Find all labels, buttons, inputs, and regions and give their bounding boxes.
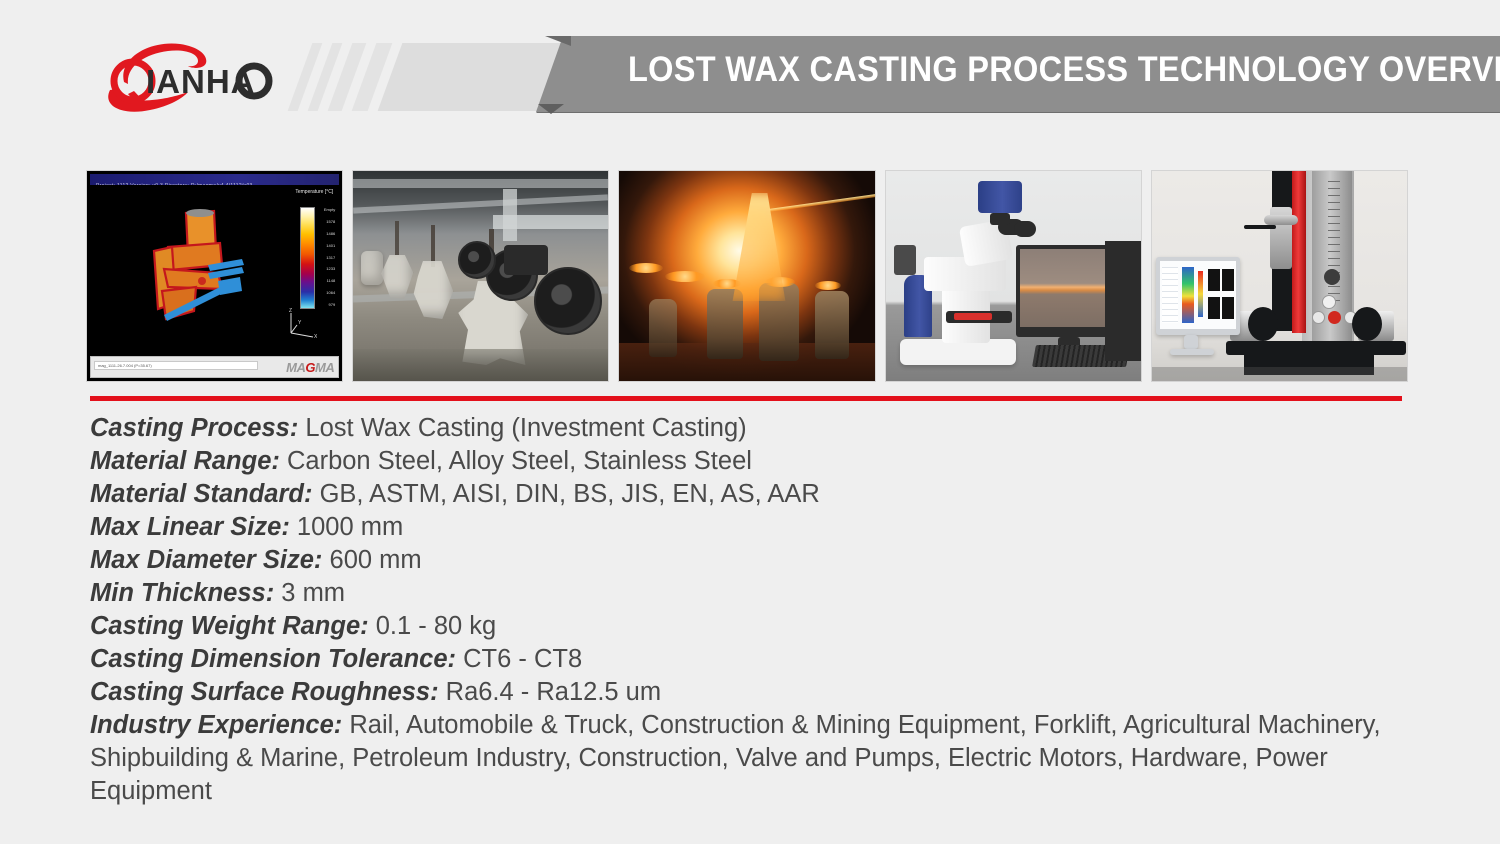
spec-label: Casting Dimension Tolerance:: [90, 645, 456, 673]
spec-label: Max Diameter Size:: [90, 546, 322, 574]
photo-strip: Project: 1112 Version: v0.3 Directory: D…: [86, 170, 1408, 382]
company-logo: IANHA: [88, 36, 288, 116]
spec-row-industry-experience: Industry Experience: Rail, Automobile & …: [90, 709, 1450, 808]
magma-statusbar: mag_1111-26.7.004 (P=35.67) MAGMA: [90, 356, 339, 378]
slide-header: IANHA LOST WAX CASTING PROCESS TECHNOLOG…: [0, 0, 1500, 150]
spec-value: 3 mm: [281, 579, 345, 607]
spec-label: Casting Weight Range:: [90, 612, 369, 640]
spec-value: Carbon Steel, Alloy Steel, Stainless Ste…: [287, 447, 752, 475]
spec-label: Material Standard:: [90, 480, 312, 508]
photo-tensile-testing-machine: [1151, 170, 1408, 382]
spec-label: Min Thickness:: [90, 579, 274, 607]
magma-tick: 1401: [317, 243, 335, 248]
magma-tick: Empty: [317, 207, 335, 212]
magma-tick: 1064: [317, 290, 335, 295]
svg-text:Z: Z: [289, 308, 292, 314]
magma-tick: 1578: [317, 219, 335, 224]
spec-row-min-thickness: Min Thickness: 3 mm: [90, 577, 1450, 610]
spec-list: Casting Process: Lost Wax Casting (Inves…: [90, 412, 1450, 808]
magma-titlebar: Project: 1112 Version: v0.3 Directory: D…: [90, 174, 339, 185]
qianhao-logo-icon: IANHA: [88, 36, 288, 116]
spec-label: Casting Process:: [90, 414, 298, 442]
photo-casting-simulation: Project: 1112 Version: v0.3 Directory: D…: [86, 170, 343, 382]
magma-tick: 1148: [317, 278, 335, 283]
magma-status-text: mag_1111-26.7.004 (P=35.67): [95, 362, 257, 370]
magma-status-field: mag_1111-26.7.004 (P=35.67): [94, 361, 258, 370]
spec-row-casting-surface-roughness: Casting Surface Roughness: Ra6.4 - Ra12.…: [90, 676, 1450, 709]
svg-text:X: X: [314, 334, 317, 339]
page-title: LOST WAX CASTING PROCESS TECHNOLOGY OVER…: [628, 50, 1500, 90]
section-divider: [90, 396, 1402, 401]
photo-metallurgical-microscope: [885, 170, 1142, 382]
svg-text:Y: Y: [298, 320, 302, 326]
spec-value: 0.1 - 80 kg: [376, 612, 497, 640]
magma-tick: 1317: [317, 255, 335, 260]
casting-part-render: [132, 207, 252, 325]
magma-tick: 979: [317, 302, 335, 307]
spec-value: 600 mm: [330, 546, 422, 574]
spec-label: Max Linear Size:: [90, 513, 290, 541]
magma-tick: 1486: [317, 231, 335, 236]
magma-software-logo: MAGMA: [286, 360, 334, 375]
spec-row-material-range: Material Range: Carbon Steel, Alloy Stee…: [90, 445, 1450, 478]
spec-row-casting-weight-range: Casting Weight Range: 0.1 - 80 kg: [90, 610, 1450, 643]
magma-scale-title: Temperature [°C]: [295, 189, 333, 195]
spec-value: GB, ASTM, AISI, DIN, BS, JIS, EN, AS, AA…: [320, 480, 820, 508]
photo-shell-mold-line: [352, 170, 609, 382]
spec-value: CT6 - CT8: [463, 645, 582, 673]
spec-label: Material Range:: [90, 447, 280, 475]
spec-row-material-standard: Material Standard: GB, ASTM, AISI, DIN, …: [90, 478, 1450, 511]
photo-metal-pouring: [618, 170, 875, 382]
spec-label: Industry Experience:: [90, 711, 342, 739]
spec-value: 1000 mm: [297, 513, 403, 541]
magma-scale-ticks: Empty 1578 1486 1401 1317 1233 1148 1064…: [317, 207, 335, 307]
magma-tick: 1233: [317, 266, 335, 271]
spec-value: Ra6.4 - Ra12.5 um: [446, 678, 661, 706]
spec-row-max-linear-size: Max Linear Size: 1000 mm: [90, 511, 1450, 544]
magma-color-scale: [300, 207, 315, 309]
slide-root: IANHA LOST WAX CASTING PROCESS TECHNOLOG…: [0, 0, 1500, 844]
magma-axis-triad-icon: Z Y X: [281, 307, 317, 339]
spec-row-casting-process: Casting Process: Lost Wax Casting (Inves…: [90, 412, 1450, 445]
spec-label: Casting Surface Roughness:: [90, 678, 439, 706]
magma-viewport: Temperature [°C] Empty 1578 1486 1401 13…: [90, 185, 339, 355]
spec-value: Lost Wax Casting (Investment Casting): [305, 414, 746, 442]
spec-row-casting-dimension-tolerance: Casting Dimension Tolerance: CT6 - CT8: [90, 643, 1450, 676]
spec-row-max-diameter-size: Max Diameter Size: 600 mm: [90, 544, 1450, 577]
